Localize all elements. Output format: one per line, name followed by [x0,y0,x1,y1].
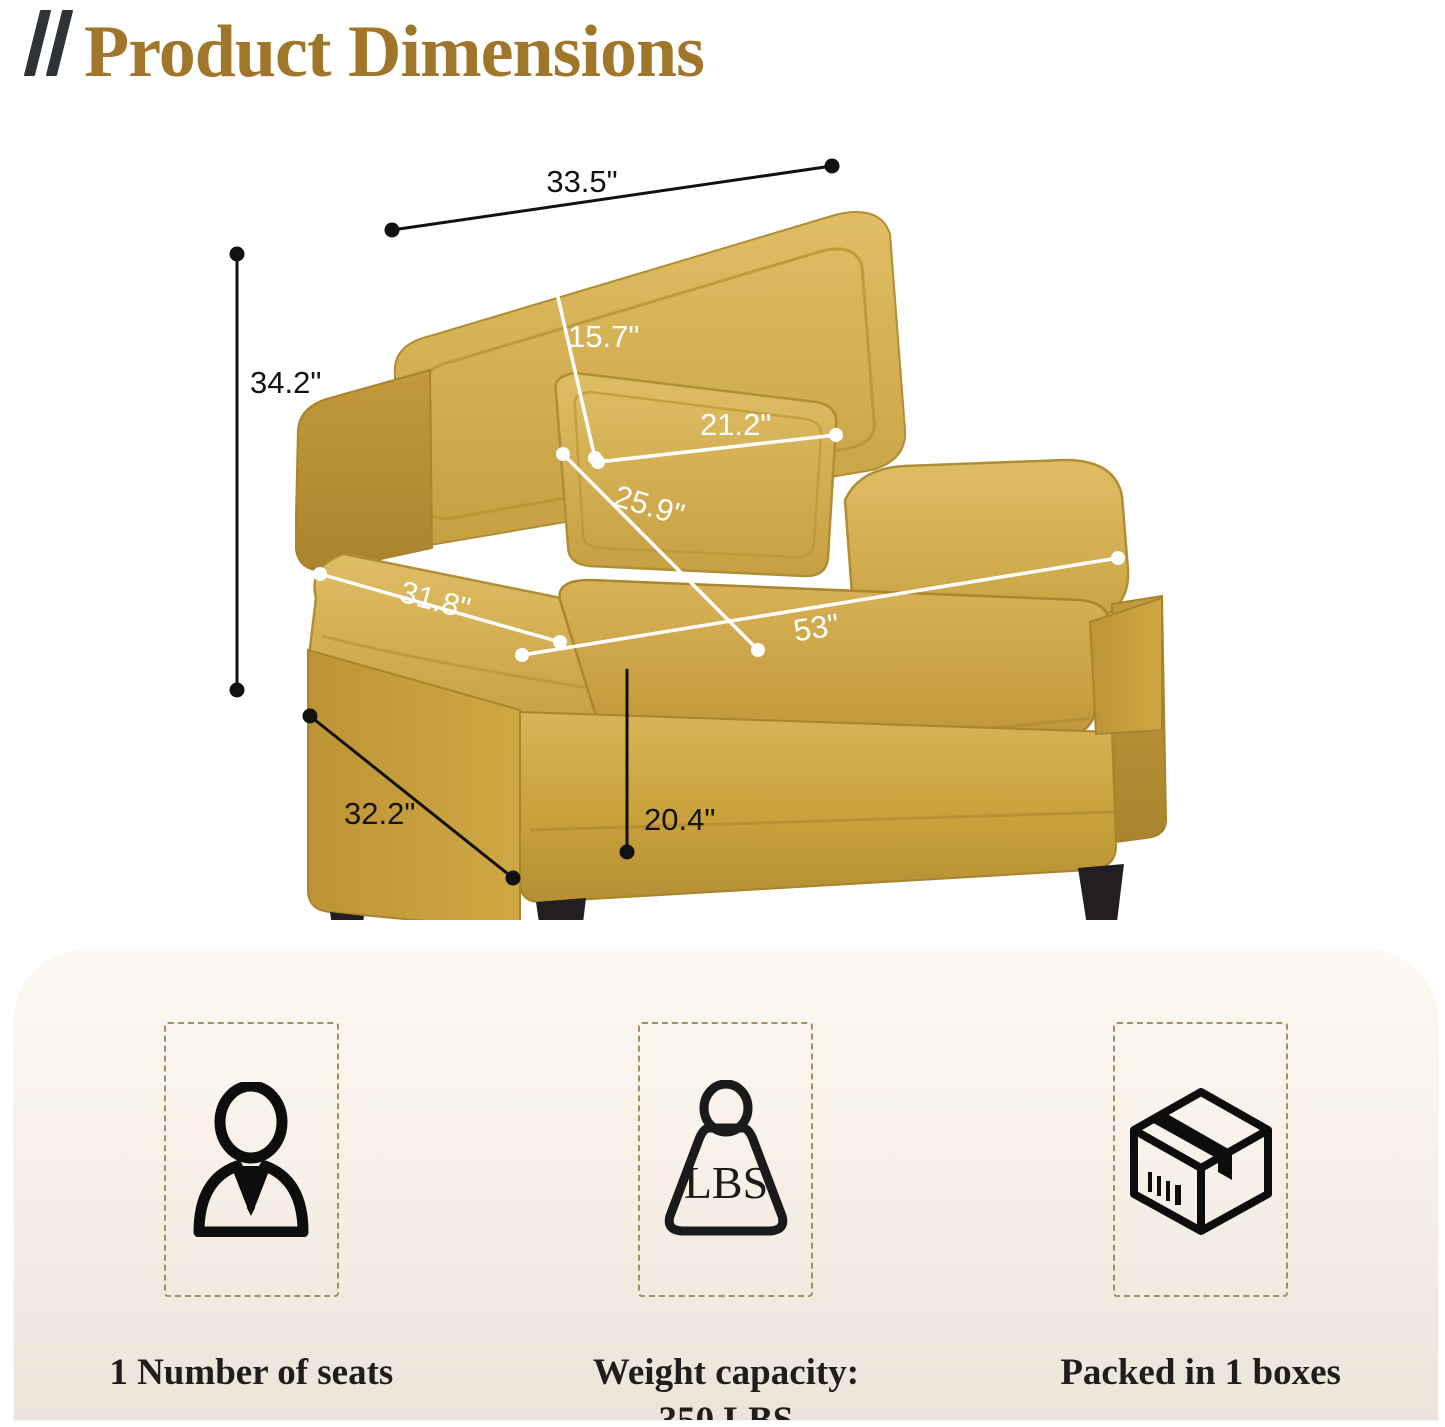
body-front-base [520,712,1116,902]
dim-back-width: 33.5" [385,159,840,238]
dim-label-33-5: 33.5" [546,164,617,199]
page-title: Product Dimensions [22,4,704,89]
infographic-stage: Product Dimensions [0,0,1445,1427]
seats-icon-frame [164,1022,339,1297]
right-arm-front [1090,598,1162,734]
package-box-icon [1126,1077,1276,1242]
boxes-caption: Packed in 1 boxes [1060,1349,1341,1397]
accent-slashes-icon [22,4,82,76]
weight-caption: Weight capacity: 350 LBS [593,1349,859,1420]
info-panel: 1 Number of seats LBS Weight capacity: 3… [14,950,1438,1420]
person-icon [176,1077,326,1242]
page-title-text: Product Dimensions [84,15,704,89]
dim-label-15-7: 15.7" [568,319,639,354]
weight-lbs-icon: LBS [651,1077,801,1242]
info-card-boxes: Packed in 1 boxes [1026,1022,1376,1397]
chair-graphic [296,212,1166,920]
seats-caption: 1 Number of seats [109,1349,393,1397]
dim-label-53: 53" [791,607,841,649]
dim-label-32-2: 32.2" [344,796,415,831]
product-illustration: 33.5" 34.2" 15.7" 21.2" [0,130,1445,920]
info-card-row: 1 Number of seats LBS Weight capacity: 3… [14,950,1438,1420]
weight-icon-text: LBS [684,1157,768,1208]
dim-label-20-4: 20.4" [644,802,715,837]
boxes-icon-frame [1113,1022,1288,1297]
dim-label-21-2: 21.2" [700,407,771,442]
dim-label-34-2: 34.2" [250,365,321,400]
weight-icon-frame: LBS [638,1022,813,1297]
leg-front-right [1078,864,1124,920]
info-card-weight: LBS Weight capacity: 350 LBS [551,1022,901,1420]
info-card-seats: 1 Number of seats [76,1022,426,1397]
throw-pillow [555,373,836,576]
back-left-wing [296,370,432,571]
